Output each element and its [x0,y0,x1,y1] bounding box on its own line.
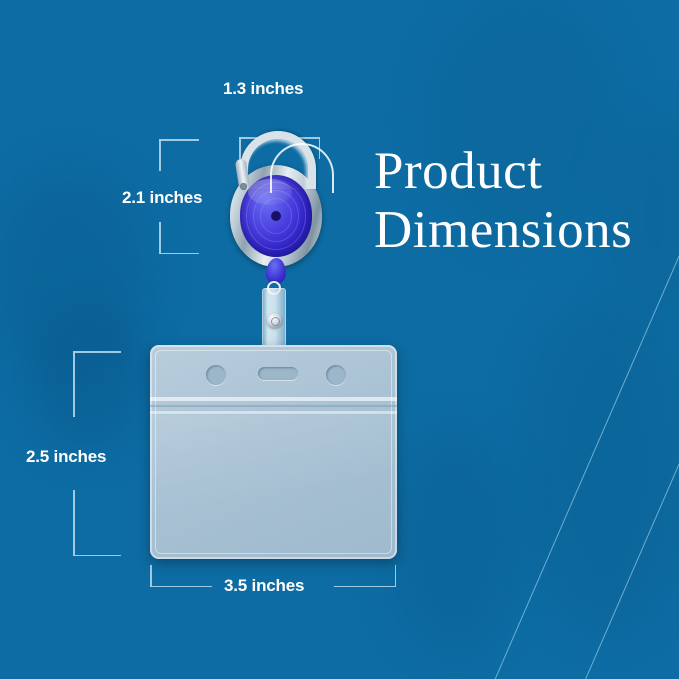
card-window-face [150,415,397,559]
page-title-line-2: Dimensions [374,201,632,260]
carabiner-pivot-pin [240,183,247,190]
dimension-label-reel-height: 2.1 inches [122,188,202,208]
vinyl-strap [259,281,289,353]
background-blur-shape [390,430,520,650]
card-punch-hole-left [206,365,226,385]
card-center-slot [258,367,298,380]
card-seam-line [150,397,397,401]
decorative-diagonal-line [543,463,679,679]
bracket-reel-height-bottom-stem [159,222,161,254]
dimension-label-reel-width: 1.3 inches [223,79,303,99]
bracket-card-height-top-arm [73,351,121,353]
bracket-card-width-stem-left [150,565,152,587]
bracket-card-height-top-stem [73,351,75,417]
carabiner-clip-arm [240,131,316,189]
card-seam-line [150,405,397,407]
bracket-card-height-bottom-arm [73,555,121,557]
product-dimensions-infographic: Product Dimensions 1.3 inches 2.1 inches… [0,0,679,679]
bracket-reel-height-bottom-arm [159,253,199,255]
carabiner-badge-reel [224,131,328,267]
bracket-card-width-arm-left [150,586,212,588]
bracket-card-width-arm-right [334,586,396,588]
page-title-line-1: Product [374,142,632,201]
card-seam-line [150,411,397,414]
carabiner-highlight [270,143,334,193]
dimension-label-card-height: 2.5 inches [26,447,106,467]
background-blur-shape [28,300,148,450]
bracket-reel-height-top-arm [159,139,199,141]
bracket-reel-height-top-stem [159,139,161,171]
badge-holder-card [150,345,397,559]
card-punch-hole-right [326,365,346,385]
dimension-label-card-width: 3.5 inches [224,576,304,596]
bracket-card-height-bottom-stem [73,490,75,556]
bracket-card-width-stem-right [395,565,397,587]
background-blur-shape [520,300,679,630]
strap-snap-button [267,313,282,328]
page-title: Product Dimensions [374,142,632,260]
decorative-diagonal-line [456,255,679,679]
lens-center-hub [271,211,281,221]
